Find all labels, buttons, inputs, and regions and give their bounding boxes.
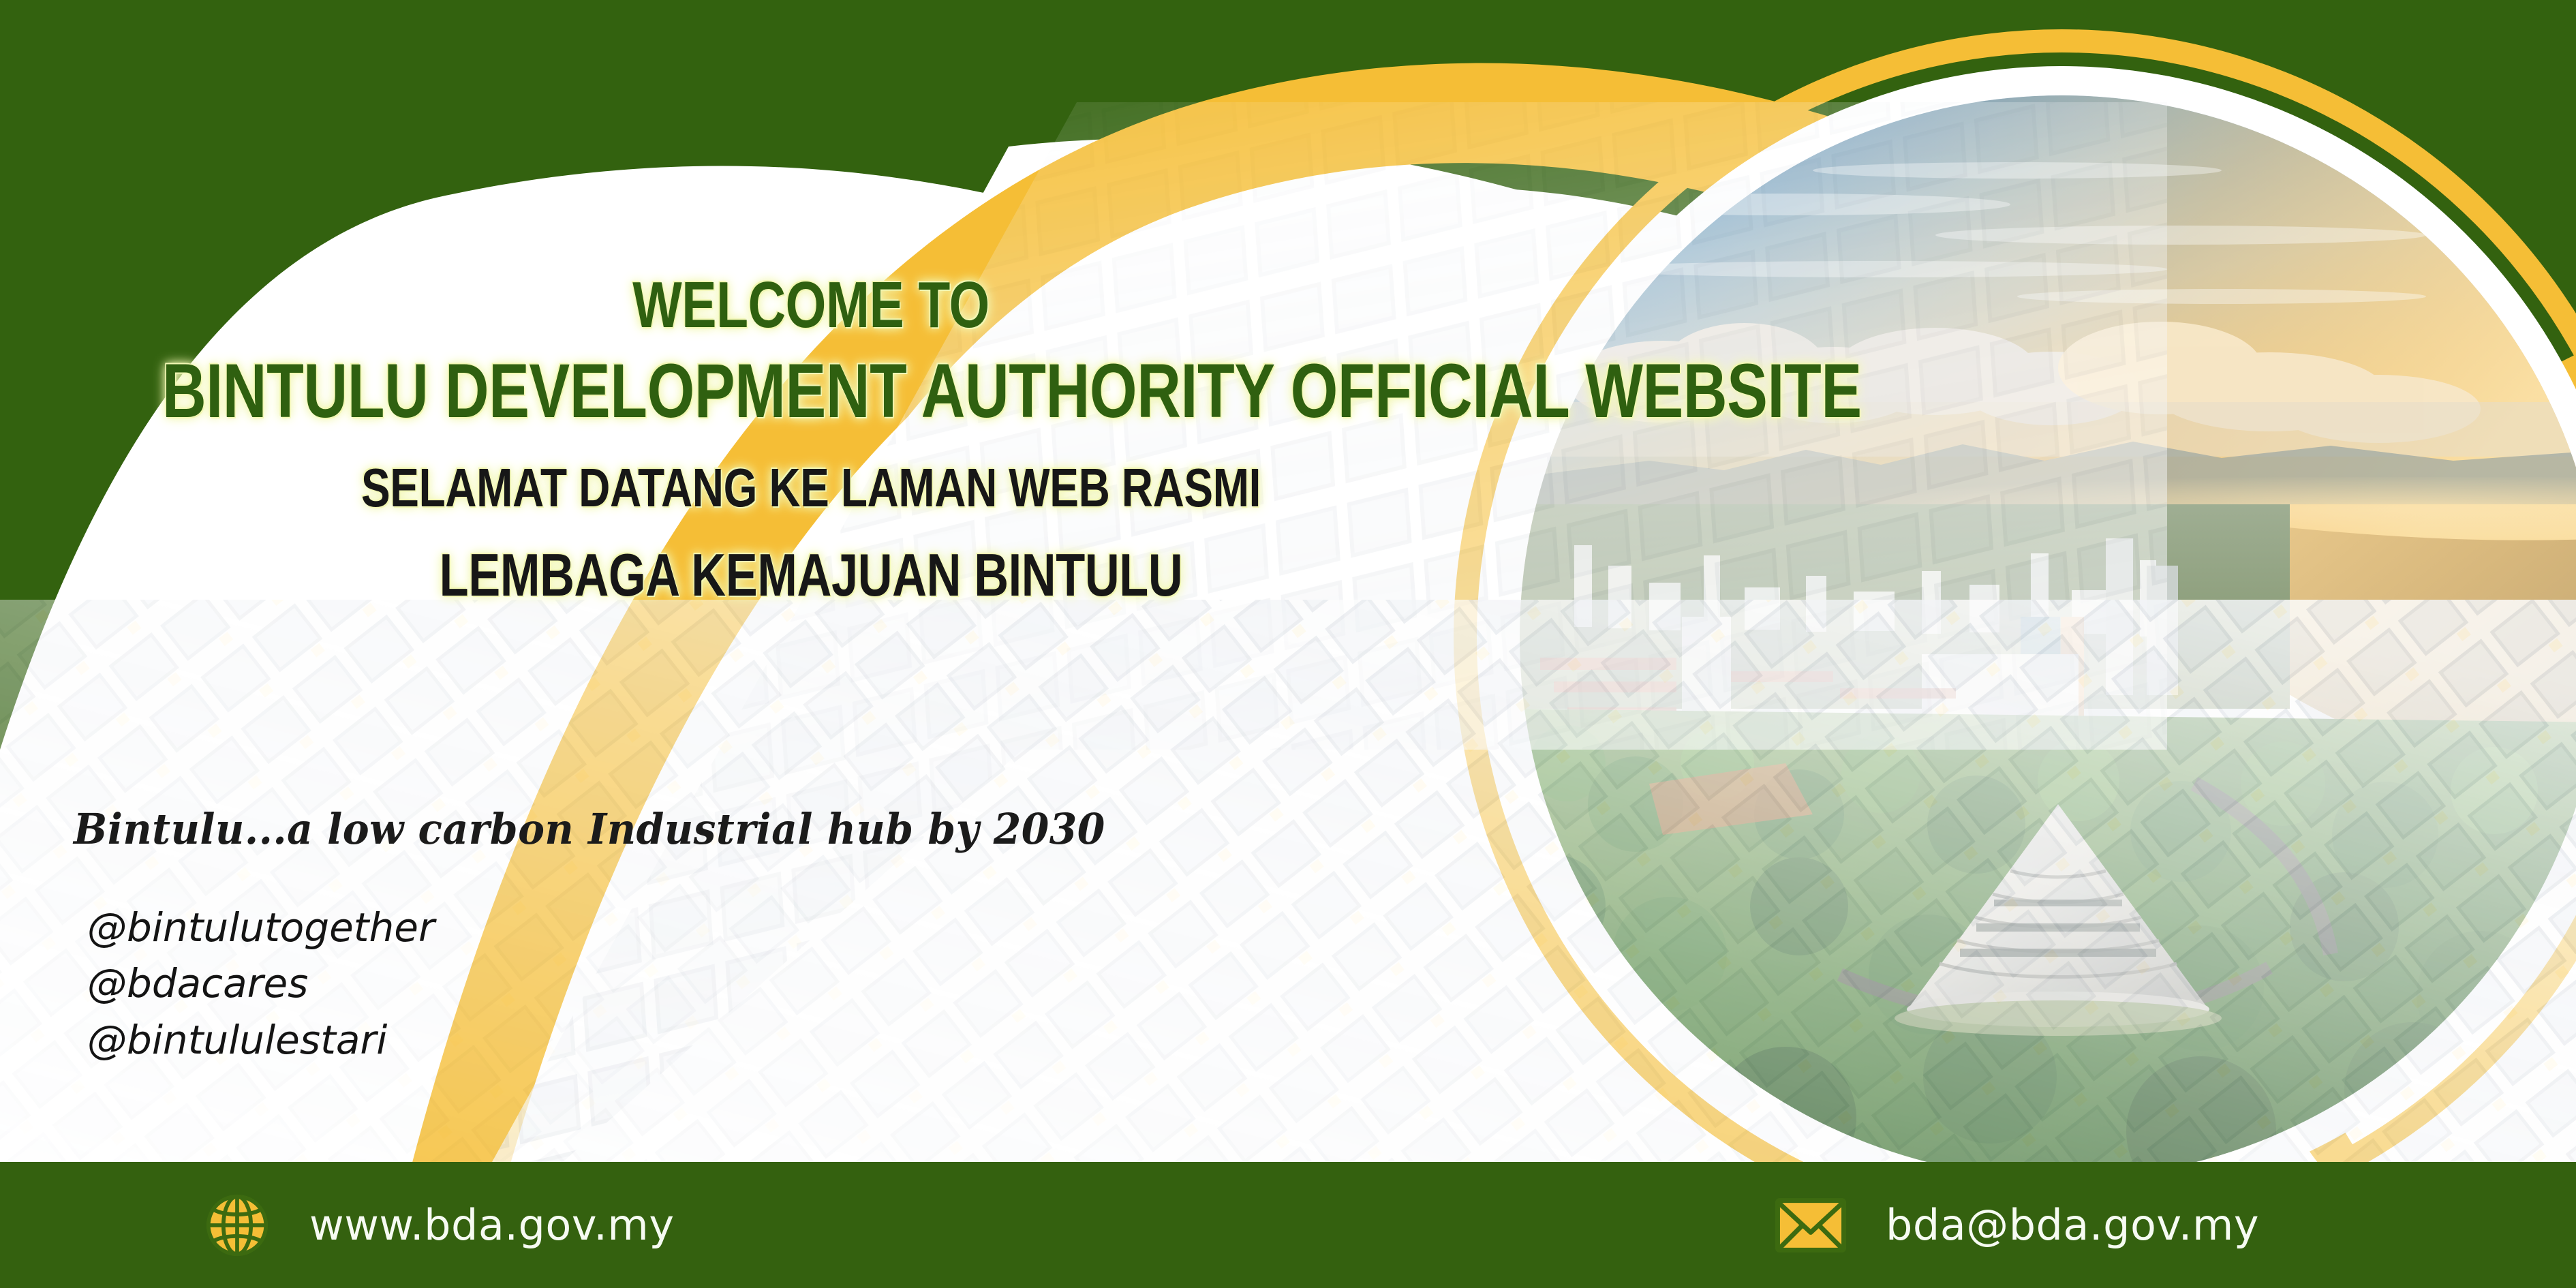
social-handle-bdacares: @bdacares xyxy=(87,955,435,1011)
banner-artwork xyxy=(0,0,2576,1288)
footer-email[interactable]: bda@bda.gov.my xyxy=(1775,1197,2259,1254)
bda-welcome-banner: WELCOME TO BINTULU DEVELOPMENT AUTHORITY… xyxy=(0,0,2576,1288)
footer-email-text[interactable]: bda@bda.gov.my xyxy=(1886,1200,2259,1250)
glass-texture-bottom xyxy=(0,0,2576,1288)
footer-website-text[interactable]: www.bda.gov.my xyxy=(309,1200,675,1250)
social-handles: @bintulutogether @bdacares @bintululesta… xyxy=(87,900,435,1068)
footer-bar: www.bda.gov.my bda@bda.gov.my xyxy=(0,1162,2576,1288)
tagline: Bintulu...a low carbon Industrial hub by… xyxy=(74,804,1105,854)
social-handle-bintulutogether: @bintulutogether xyxy=(87,900,435,955)
envelope-icon xyxy=(1775,1197,1846,1254)
globe-icon xyxy=(204,1193,270,1258)
footer-website[interactable]: www.bda.gov.my xyxy=(204,1193,675,1258)
social-handle-bintululestari: @bintululestari xyxy=(87,1012,435,1068)
